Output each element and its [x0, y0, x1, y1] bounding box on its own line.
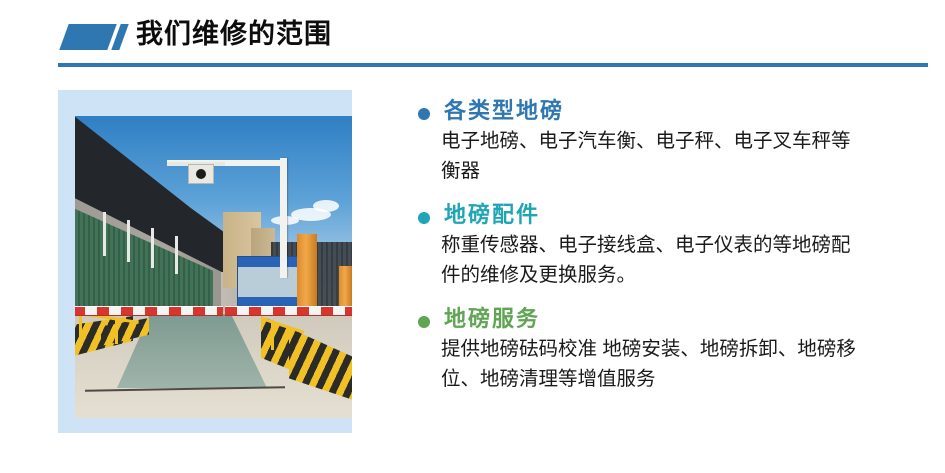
cloud: [313, 200, 339, 212]
weighbridge-photo: [75, 116, 352, 418]
guardrail-post: [271, 320, 274, 350]
page-title: 我们维修的范围: [136, 17, 332, 51]
fence-post: [103, 212, 106, 256]
boom-barrier-arm: [75, 306, 223, 316]
parallelogram-block-icon: [59, 24, 116, 50]
bullet-dot-icon: [418, 212, 430, 224]
fence-post: [175, 236, 178, 274]
bullet-dot-icon: [418, 108, 430, 120]
item-body: 电子地磅、电子汽车衡、电子秤、电子叉车秤等衡器: [441, 126, 861, 186]
fence-post: [127, 220, 130, 262]
anpr-camera-icon: [188, 164, 214, 184]
header-accent-marks: [64, 24, 128, 50]
list-item: 地磅服务 提供地磅砝码校准 地磅安装、地磅拆卸、地磅移位、地磅清理等增值服务: [414, 304, 934, 394]
list-item: 地磅配件 称重传感器、电子接线盒、电子仪表的等地磅配件的维修及更换服务。: [414, 200, 934, 290]
item-heading: 地磅服务: [444, 304, 934, 334]
service-scope-list: 各类型地磅 电子地磅、电子汽车衡、电子秤、电子叉车秤等衡器 地磅配件 称重传感器…: [414, 96, 934, 394]
guardrail-post: [115, 318, 118, 344]
item-heading: 各类型地磅: [444, 96, 934, 126]
item-body: 提供地磅砝码校准 地磅安装、地磅拆卸、地磅移位、地磅清理等增值服务: [441, 334, 861, 394]
guardrail-post: [79, 314, 82, 344]
page-header: 我们维修的范围: [0, 0, 945, 76]
list-item: 各类型地磅 电子地磅、电子汽车衡、电子秤、电子叉车秤等衡器: [414, 96, 934, 186]
header-divider: [58, 63, 928, 67]
item-body: 称重传感器、电子接线盒、电子仪表的等地磅配件的维修及更换服务。: [441, 230, 861, 290]
boom-barrier-arm: [225, 306, 352, 316]
item-heading: 地磅配件: [444, 200, 934, 230]
gantry-pole: [280, 158, 287, 278]
bullet-dot-icon: [418, 316, 430, 328]
photo-frame: [58, 90, 352, 433]
fence-post: [151, 228, 154, 268]
